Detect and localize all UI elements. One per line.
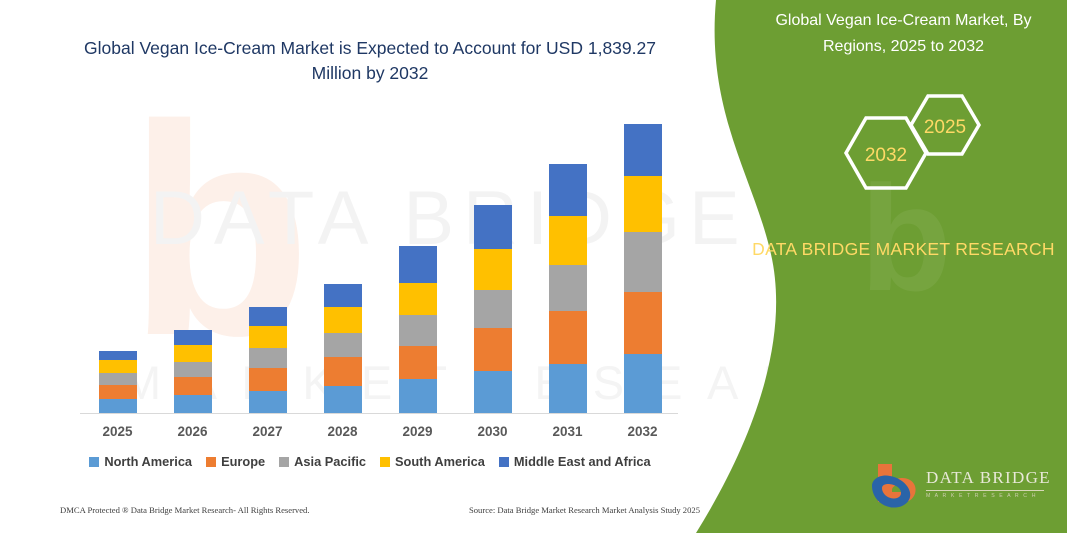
- legend-label: Middle East and Africa: [514, 454, 651, 469]
- bar-segment: [474, 371, 512, 414]
- data-bridge-logo: DATA BRIDGE M A R K E T R E S E A R C H: [870, 462, 1060, 518]
- bar-segment: [174, 330, 212, 345]
- hexagon-2025-label: 2025: [924, 117, 966, 138]
- x-axis-label-2025: 2025: [86, 424, 150, 439]
- legend-swatch-icon: [380, 457, 390, 467]
- bar-segment: [249, 391, 287, 414]
- bar-2027[interactable]: [249, 307, 287, 414]
- bar-2025[interactable]: [99, 351, 137, 414]
- legend-swatch-icon: [206, 457, 216, 467]
- bar-segment: [324, 333, 362, 357]
- brand-name: DATA BRIDGE MARKET RESEARCH: [750, 236, 1057, 262]
- bar-2031[interactable]: [549, 164, 587, 414]
- legend-item[interactable]: Asia Pacific: [279, 454, 366, 469]
- infographic-root: b DATA BRIDGE M A R K E T R E S E A R C …: [0, 0, 1067, 533]
- bar-segment: [399, 283, 437, 316]
- bar-segment: [324, 284, 362, 307]
- x-axis-label-2028: 2028: [311, 424, 375, 439]
- bar-segment: [174, 377, 212, 395]
- bar-segment: [324, 307, 362, 333]
- bar-segment: [99, 351, 137, 360]
- hexagon-2032-label: 2032: [865, 145, 907, 166]
- bar-segment: [624, 232, 662, 292]
- bar-segment: [474, 205, 512, 249]
- bar-segment: [624, 176, 662, 233]
- x-axis-label-2026: 2026: [161, 424, 225, 439]
- bar-segment: [549, 364, 587, 414]
- bar-segment: [249, 307, 287, 326]
- bar-segment: [549, 164, 587, 215]
- x-axis-label-2030: 2030: [461, 424, 525, 439]
- x-axis-line: [80, 413, 678, 414]
- legend-swatch-icon: [499, 457, 509, 467]
- bar-segment: [174, 345, 212, 362]
- logo-divider: [926, 490, 1044, 491]
- bar-segment: [549, 216, 587, 265]
- legend-label: Europe: [221, 454, 265, 469]
- footer-source: Source: Data Bridge Market Research Mark…: [469, 505, 700, 515]
- x-axis-label-2029: 2029: [386, 424, 450, 439]
- right-panel-content: Global Vegan Ice-Cream Market, By Region…: [740, 0, 1067, 533]
- bar-segment: [174, 395, 212, 414]
- chart-title: Global Vegan Ice-Cream Market is Expecte…: [70, 36, 670, 86]
- bar-segment: [99, 385, 137, 400]
- bar-segment: [549, 311, 587, 364]
- footer-copyright: DMCA Protected ® Data Bridge Market Rese…: [60, 505, 310, 515]
- bar-2028[interactable]: [324, 284, 362, 414]
- chart-panel: Global Vegan Ice-Cream Market is Expecte…: [0, 0, 740, 533]
- bar-segment: [399, 246, 437, 283]
- hexagons-svg: 2025 2032: [810, 88, 1000, 203]
- x-axis-label-2032: 2032: [611, 424, 675, 439]
- bar-segment: [174, 362, 212, 378]
- x-axis-label-2027: 2027: [236, 424, 300, 439]
- bar-2030[interactable]: [474, 205, 512, 414]
- bar-segment: [324, 386, 362, 414]
- legend-label: North America: [104, 454, 192, 469]
- bar-2032[interactable]: [624, 124, 662, 414]
- legend-label: South America: [395, 454, 485, 469]
- bar-segment: [624, 292, 662, 354]
- legend-swatch-icon: [89, 457, 99, 467]
- legend-item[interactable]: Middle East and Africa: [499, 454, 651, 469]
- bar-2029[interactable]: [399, 246, 437, 414]
- footer: DMCA Protected ® Data Bridge Market Rese…: [60, 505, 700, 515]
- bar-segment: [99, 399, 137, 414]
- legend-label: Asia Pacific: [294, 454, 366, 469]
- legend-item[interactable]: North America: [89, 454, 192, 469]
- chart-legend: North AmericaEuropeAsia PacificSouth Ame…: [0, 454, 740, 469]
- bar-segment: [474, 290, 512, 328]
- bar-segment: [99, 360, 137, 373]
- bar-segment: [99, 373, 137, 385]
- bar-segment: [624, 124, 662, 175]
- logo-subtitle: M A R K E T R E S E A R C H: [926, 493, 1037, 499]
- bar-segment: [324, 357, 362, 385]
- logo-wordmark: DATA BRIDGE: [926, 468, 1051, 488]
- bar-segment: [399, 379, 437, 414]
- logo-mark-icon: [870, 462, 922, 512]
- bar-2026[interactable]: [174, 330, 212, 414]
- bar-segment: [249, 348, 287, 368]
- bar-segment: [624, 354, 662, 414]
- right-panel-title: Global Vegan Ice-Cream Market, By Region…: [748, 8, 1059, 60]
- legend-item[interactable]: South America: [380, 454, 485, 469]
- legend-item[interactable]: Europe: [206, 454, 265, 469]
- bar-segment: [474, 249, 512, 290]
- bar-segment: [249, 326, 287, 348]
- hexagon-group: 2025 2032: [810, 88, 1000, 203]
- bar-chart-plot: [80, 120, 680, 414]
- bar-segment: [474, 328, 512, 371]
- bar-segment: [399, 315, 437, 345]
- x-axis-labels: 20252026202720282029203020312032: [80, 424, 680, 446]
- bar-segment: [249, 368, 287, 391]
- bar-segment: [399, 346, 437, 380]
- legend-swatch-icon: [279, 457, 289, 467]
- x-axis-label-2031: 2031: [536, 424, 600, 439]
- bar-segment: [549, 265, 587, 311]
